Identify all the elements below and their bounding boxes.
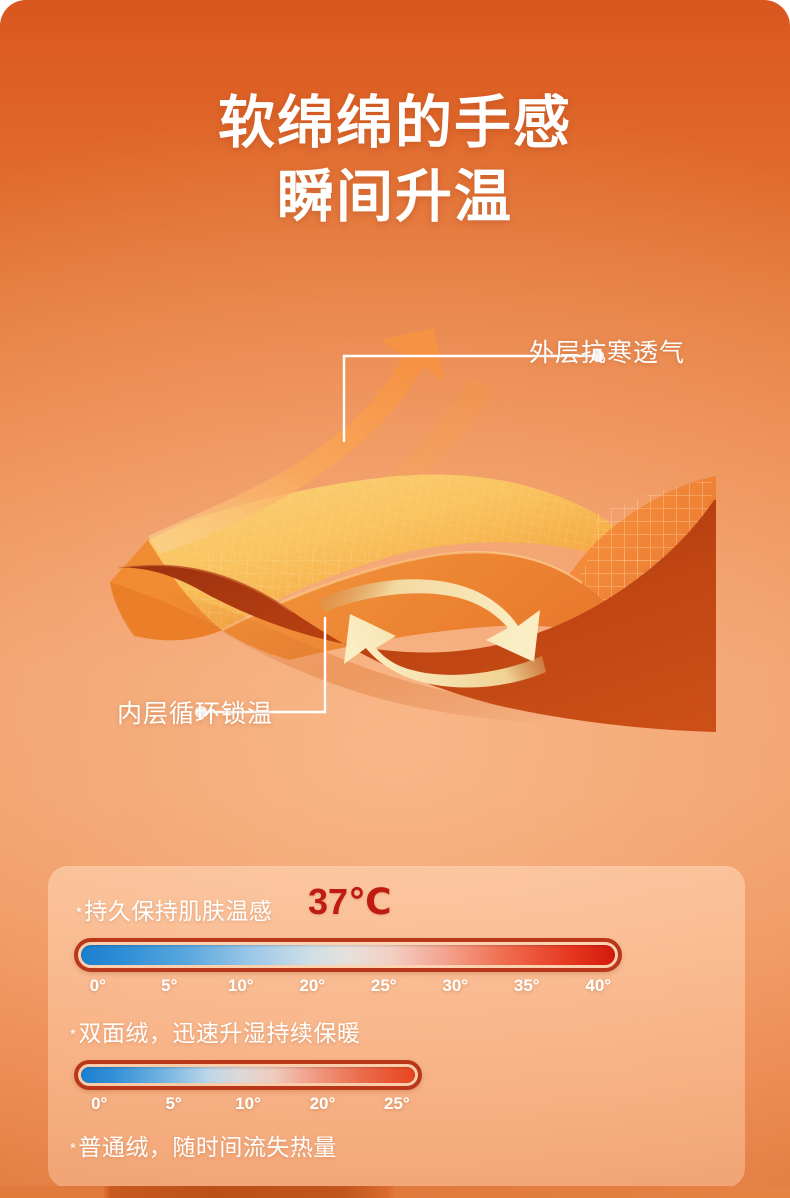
tick-label: 40° xyxy=(563,976,635,996)
spec-row-4-text: 普通绒，随时间流失热量 xyxy=(78,1134,337,1160)
promo-page: 软绵绵的手感 瞬间升温 xyxy=(0,0,790,1198)
tick-label: 5° xyxy=(134,976,206,996)
spec-row-2-label: *双面绒，迅速升湿持续保暖 xyxy=(70,1014,360,1048)
temperature-bar-ordinary xyxy=(74,1060,422,1090)
thermal-spec-card: *持久保持肌肤温感 37℃ 0° 5° 10° 20° 25° 30° 35° … xyxy=(48,866,745,1188)
bullet-star-1: * xyxy=(76,904,82,921)
tick-label: 30° xyxy=(420,976,492,996)
callout-label-inner-layer: 内层循环锁温 xyxy=(117,694,273,730)
callout-label-outer-layer: 外层抗寒透气 xyxy=(529,333,685,369)
temperature-bar-premium-track xyxy=(74,938,622,972)
page-title-line-1: 软绵绵的手感 xyxy=(0,86,790,160)
spec-row-1-label: *持久保持肌肤温感 xyxy=(76,892,272,926)
tick-label: 20° xyxy=(285,1094,359,1114)
temperature-bar-ordinary-fill xyxy=(81,1067,415,1083)
temperature-bar-premium-fill xyxy=(81,945,615,965)
page-title: 软绵绵的手感 瞬间升温 xyxy=(0,86,790,234)
tick-label: 35° xyxy=(491,976,563,996)
spec-row-1-text: 持久保持肌肤温感 xyxy=(84,898,272,924)
tick-label: 5° xyxy=(136,1094,210,1114)
tick-label: 10° xyxy=(205,976,277,996)
next-section-strip xyxy=(0,1186,790,1198)
bullet-star-3: * xyxy=(70,1140,76,1157)
spec-row-4-label: *普通绒，随时间流失热量 xyxy=(70,1128,337,1162)
page-title-line-2: 瞬间升温 xyxy=(0,160,790,234)
tick-label: 20° xyxy=(277,976,349,996)
temperature-bar-premium xyxy=(74,938,622,972)
bullet-star-2: * xyxy=(70,1026,76,1043)
tick-label: 0° xyxy=(62,976,134,996)
temperature-bar-ordinary-track xyxy=(74,1060,422,1090)
tick-label: 25° xyxy=(360,1094,434,1114)
tick-label: 0° xyxy=(62,1094,136,1114)
tick-label: 25° xyxy=(348,976,420,996)
tick-label: 10° xyxy=(211,1094,285,1114)
spec-row-2-text: 双面绒，迅速升湿持续保暖 xyxy=(78,1020,360,1046)
temperature-bar-premium-ticks: 0° 5° 10° 20° 25° 30° 35° 40° xyxy=(62,976,634,996)
temperature-bar-ordinary-ticks: 0° 5° 10° 20° 25° xyxy=(62,1094,434,1114)
target-temperature-value: 37℃ xyxy=(308,881,392,923)
